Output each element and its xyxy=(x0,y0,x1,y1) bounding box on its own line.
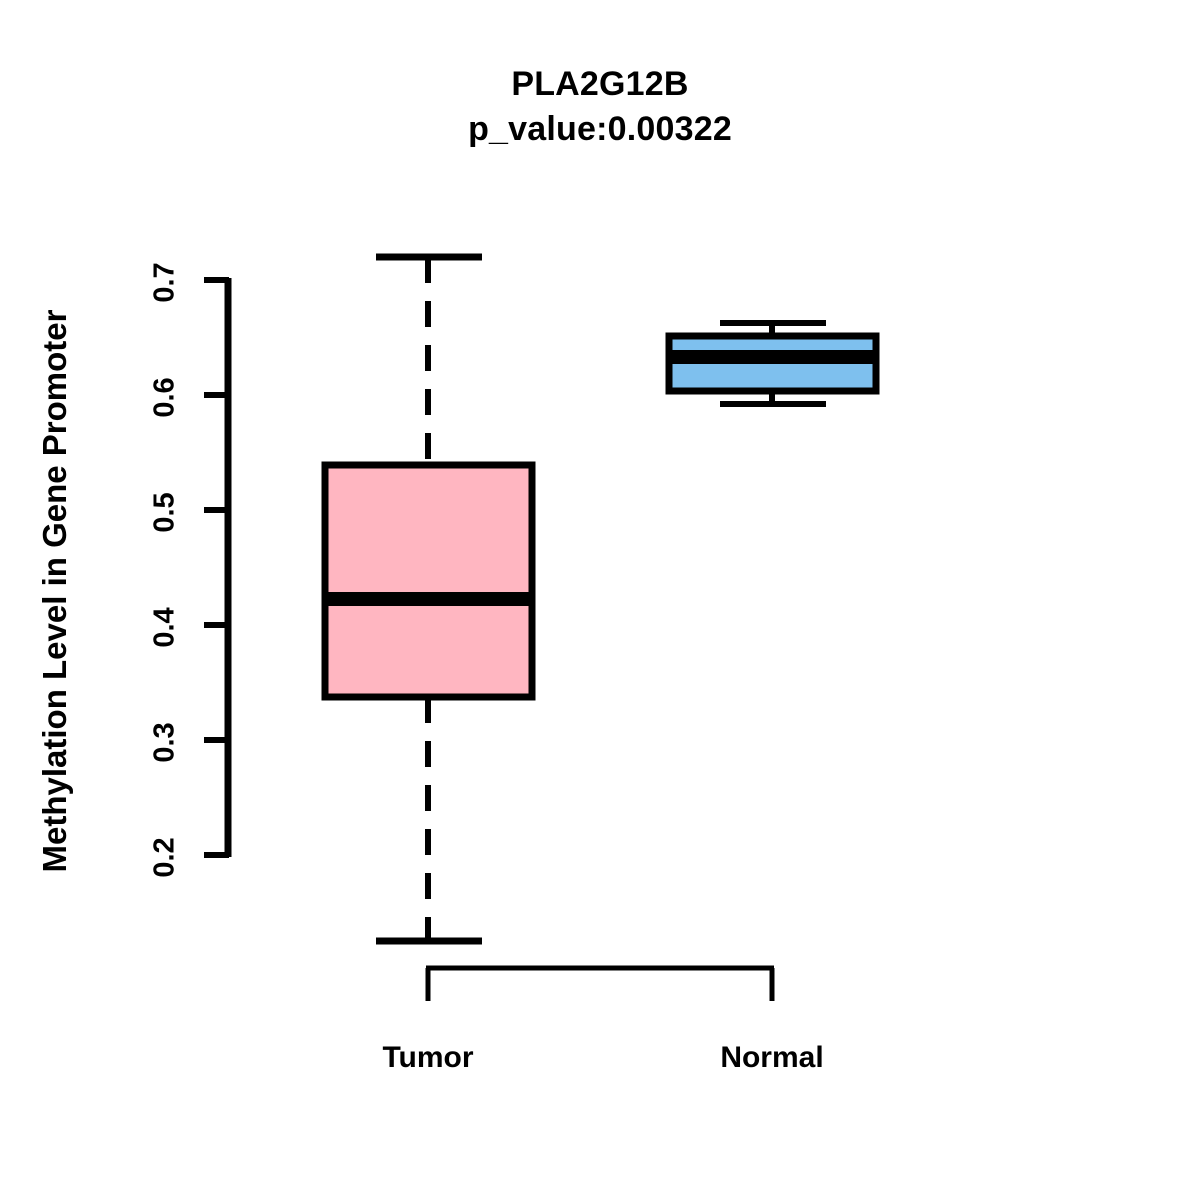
boxplot-figure: PLA2G12B p_value:0.00322 Methylation Lev… xyxy=(0,0,1200,1200)
box-normal xyxy=(666,323,879,404)
plot-canvas xyxy=(0,0,1200,1200)
box-tumor xyxy=(322,257,535,941)
x-axis xyxy=(426,968,774,1001)
y-axis xyxy=(204,278,229,857)
box-body-tumor xyxy=(325,465,532,697)
